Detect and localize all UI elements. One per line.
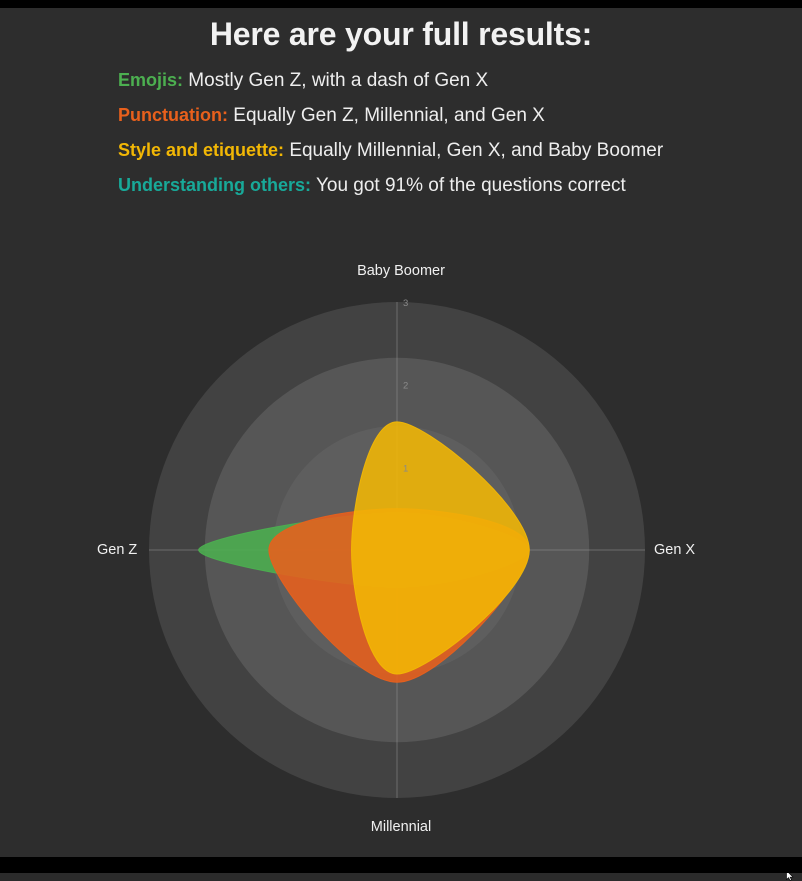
- page-title: Here are your full results:: [0, 16, 802, 53]
- result-row-understanding-others: Understanding others: You got 91% of the…: [118, 173, 798, 198]
- radar-chart: Baby Boomer Gen X Millennial Gen Z 123: [0, 248, 802, 848]
- result-value-punctuation: Equally Gen Z, Millennial, and Gen X: [233, 105, 545, 126]
- result-row-style-and-etiquette: Style and etiquette: Equally Millennial,…: [118, 138, 798, 163]
- result-row-punctuation: Punctuation: Equally Gen Z, Millennial, …: [118, 103, 798, 128]
- result-row-emojis: Emojis: Mostly Gen Z, with a dash of Gen…: [118, 68, 798, 93]
- result-label-style-and-etiquette: Style and etiquette:: [118, 140, 284, 160]
- radar-rtick-1: 1: [403, 463, 408, 474]
- result-value-style-and-etiquette: Equally Millennial, Gen X, and Baby Boom…: [289, 140, 663, 161]
- result-label-understanding-others: Understanding others:: [118, 175, 311, 195]
- result-value-understanding-others: You got 91% of the questions correct: [316, 175, 626, 196]
- result-value-emojis: Mostly Gen Z, with a dash of Gen X: [188, 70, 488, 91]
- results-summary-list: Emojis: Mostly Gen Z, with a dash of Gen…: [118, 68, 798, 208]
- radar-rtick-3: 3: [403, 298, 408, 309]
- results-page: Here are your full results: Emojis: Most…: [0, 8, 802, 857]
- window-bottom-bar: [0, 857, 802, 873]
- radar-plot-area: 123: [0, 248, 802, 848]
- radar-rtick-2: 2: [403, 381, 408, 392]
- window-top-bar: [0, 0, 802, 8]
- result-label-punctuation: Punctuation:: [118, 105, 228, 125]
- result-label-emojis: Emojis:: [118, 70, 183, 90]
